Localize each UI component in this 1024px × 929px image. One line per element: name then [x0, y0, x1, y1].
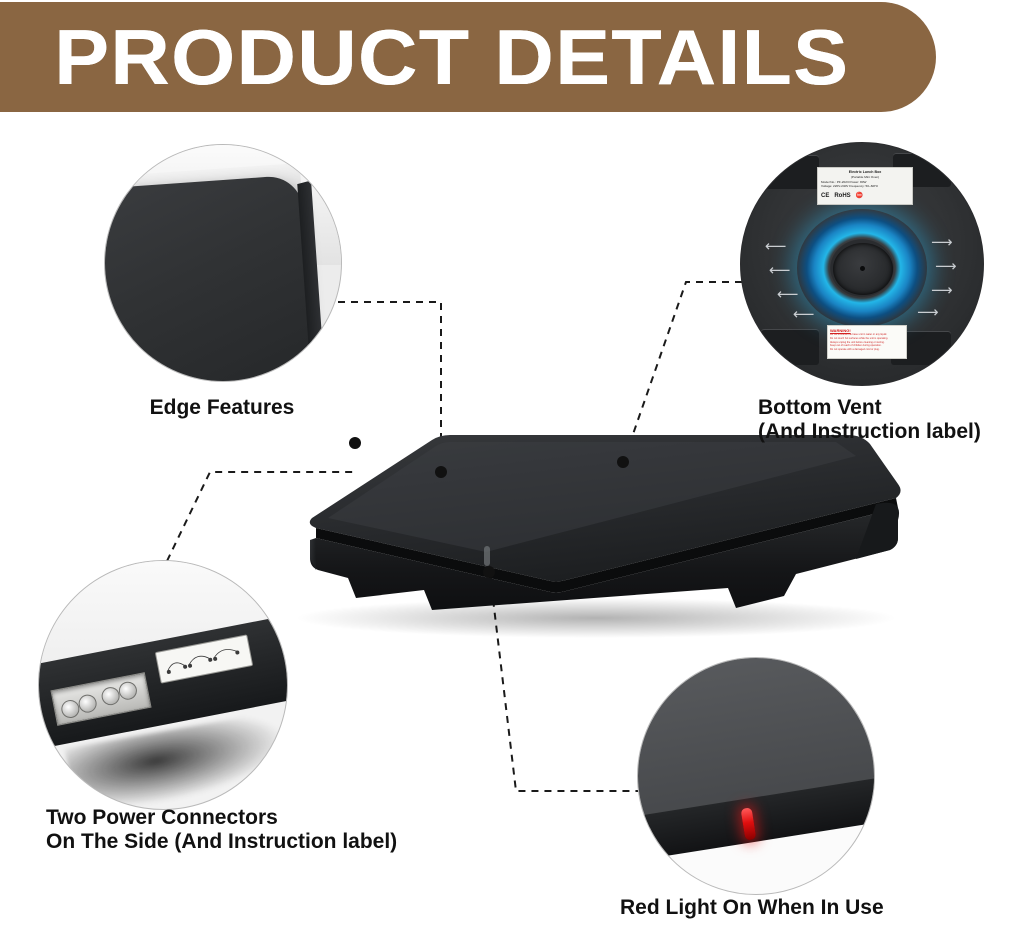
warning-line: Do not operate with a damaged cord or pl… — [830, 348, 904, 352]
page-title: PRODUCT DETAILS — [54, 18, 849, 96]
led-slot — [484, 546, 490, 566]
anchor-dot-red-light — [483, 566, 495, 578]
power-connectors-photo — [38, 560, 288, 810]
leader-edge-features — [338, 302, 441, 441]
anchor-dot-bottom-vent — [617, 456, 629, 468]
bottom-vent-label-line-1: Bottom Vent — [758, 396, 981, 420]
ce-mark-icon: CE — [821, 192, 829, 201]
rohs-mark-icon: RoHS — [834, 192, 850, 201]
power-label-line-1: Two Power Connectors — [46, 806, 397, 830]
airflow-arrow-icon: ⟶ — [917, 305, 939, 320]
product-details-infographic: PRODUCT DETAILS — [0, 0, 1024, 929]
specification-label: Electric Lunch Box (Portable Mini Oven) … — [817, 167, 913, 205]
power-connectors-label: Two Power Connectors On The Side (And In… — [46, 806, 397, 853]
product-image — [236, 428, 916, 640]
anchor-dot-power-connectors — [349, 437, 361, 449]
spec-line-2: Voltage: 220V-240V Frequency: 50~60Hz — [821, 184, 909, 188]
airflow-arrow-icon: ⟵ — [765, 239, 787, 254]
airflow-arrow-icon: ⟵ — [793, 307, 815, 322]
rubber-foot — [761, 329, 819, 365]
edge-features-photo — [104, 144, 342, 382]
socket-contact — [117, 680, 138, 701]
airflow-arrow-icon: ⟵ — [777, 287, 799, 302]
vent-hub — [833, 243, 893, 295]
red-light-label: Red Light On When In Use — [620, 896, 884, 920]
certification-marks: CE RoHS ⛔ — [821, 192, 909, 201]
edge-features-label: Edge Features — [104, 396, 340, 420]
bottom-vent-label: Bottom Vent (And Instruction label) — [758, 396, 981, 443]
bottom-vent-photo: ⟵ ⟵ ⟵ ⟵ ⟶ ⟶ ⟶ ⟶ Electric Lunch Box (Port… — [740, 142, 984, 386]
bottom-vent-label-line-2: (And Instruction label) — [758, 420, 981, 444]
airflow-arrow-icon: ⟵ — [769, 263, 791, 278]
anchor-dot-edge-features — [435, 466, 447, 478]
socket-contact — [77, 693, 98, 714]
airflow-arrow-icon: ⟶ — [931, 235, 953, 250]
edge-features-corner — [104, 175, 317, 382]
red-light-photo — [637, 657, 875, 895]
warning-label: WARNING! Do not immerse the base unit in… — [827, 325, 907, 359]
rubber-foot — [765, 155, 819, 189]
airflow-arrow-icon: ⟶ — [935, 259, 957, 274]
weee-bin-icon: ⛔ — [856, 192, 863, 201]
power-label-line-2: On The Side (And Instruction label) — [46, 830, 397, 854]
header-banner: PRODUCT DETAILS — [0, 2, 936, 112]
airflow-arrow-icon: ⟶ — [931, 283, 953, 298]
